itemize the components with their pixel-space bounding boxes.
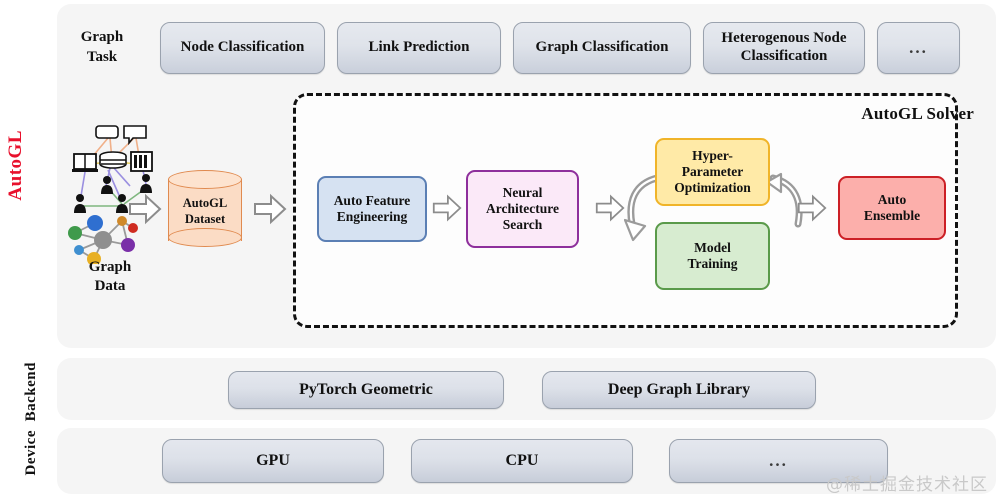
rail-label-backend: Backend <box>24 362 39 421</box>
device-box-label: ... <box>769 451 788 471</box>
task-box-node-classification[interactable]: Node Classification <box>160 22 325 74</box>
graph-node <box>87 215 103 231</box>
arrow-loop-to-ensemble <box>797 193 827 223</box>
stage-label-line1: Neural <box>486 185 559 201</box>
backend-box-deep-graph-library[interactable]: Deep Graph Library <box>542 371 816 409</box>
device-box-label: GPU <box>256 452 290 471</box>
arrow-nas-to-loop <box>595 193 625 223</box>
arrow-graphdata-to-dataset <box>128 193 162 225</box>
graph-node <box>117 216 127 226</box>
device-box-label: CPU <box>506 452 539 471</box>
device-box-cpu[interactable]: CPU <box>411 439 633 483</box>
backend-panel <box>57 358 996 420</box>
graph-task-label: Graph Task <box>62 28 142 67</box>
diagram-canvas: AutoGL Backend Device Graph Task Node Cl… <box>0 0 1000 499</box>
stage-label-line1: Auto <box>864 192 920 208</box>
stage-auto-ensemble[interactable]: Auto Ensemble <box>838 176 946 240</box>
task-box-more[interactable]: ... <box>877 22 960 74</box>
stage-label-line1: Auto Feature <box>334 193 411 209</box>
arrow-afe-to-nas <box>432 193 462 223</box>
autogl-dataset-cylinder: AutoGL Dataset <box>168 170 242 248</box>
stage-label-line1: Hyper- <box>674 148 751 164</box>
backend-box-pytorch-geometric[interactable]: PyTorch Geometric <box>228 371 504 409</box>
stage-auto-feature-engineering[interactable]: Auto Feature Engineering <box>317 176 427 242</box>
stage-neural-architecture-search[interactable]: Neural Architecture Search <box>466 170 579 248</box>
graph-data-label: Graph Data <box>62 258 158 296</box>
library-books-icon <box>131 152 152 171</box>
autogl-solver-title: AutoGL Solver <box>861 104 974 124</box>
person-icon <box>74 194 86 213</box>
stage-label-line3: Optimization <box>674 180 751 196</box>
device-box-gpu[interactable]: GPU <box>162 439 384 483</box>
task-box-link-prediction[interactable]: Link Prediction <box>337 22 501 74</box>
backend-box-label: Deep Graph Library <box>608 381 750 400</box>
stage-label-line3: Search <box>486 217 559 233</box>
dataset-label-line2: Dataset <box>185 212 225 228</box>
task-box-label: ... <box>909 38 928 58</box>
rail-label-device: Device <box>24 430 39 475</box>
stage-label-line2: Training <box>687 256 737 272</box>
cylinder-top <box>168 170 242 189</box>
task-box-label: Graph Classification <box>536 39 669 57</box>
graph-node <box>68 226 82 240</box>
rail-label-autogl: AutoGL <box>6 130 25 201</box>
stage-label-line2: Engineering <box>334 209 411 225</box>
laptop-icon <box>72 154 98 172</box>
task-box-graph-classification[interactable]: Graph Classification <box>513 22 691 74</box>
dataset-label-line1: AutoGL <box>183 196 227 212</box>
stage-label-line1: Model <box>687 240 737 256</box>
arrow-dataset-to-solver <box>253 193 287 225</box>
graph-data-label-line1: Graph <box>62 258 158 277</box>
graph-node <box>121 238 135 252</box>
task-box-label: Heterogenous Node Classification <box>710 30 858 65</box>
stage-model-training[interactable]: Model Training <box>655 222 770 290</box>
stage-label-line2: Parameter <box>674 164 751 180</box>
graph-node <box>94 231 112 249</box>
task-box-label: Node Classification <box>181 39 305 57</box>
graph-task-label-line1: Graph <box>62 28 142 48</box>
task-box-label: Link Prediction <box>369 39 470 57</box>
stage-label-line2: Architecture <box>486 201 559 217</box>
stage-hyper-parameter-optimization[interactable]: Hyper- Parameter Optimization <box>655 138 770 206</box>
stage-label-line2: Ensemble <box>864 208 920 224</box>
books-stack-icon <box>100 152 126 168</box>
graph-data-label-line2: Data <box>62 277 158 296</box>
watermark: @稀土掘金技术社区 <box>826 470 988 495</box>
speech-bubble-flag-icon <box>124 126 146 143</box>
dataset-label: AutoGL Dataset <box>168 190 242 234</box>
graph-task-label-line2: Task <box>62 48 142 68</box>
speech-bubble-icon <box>96 126 118 138</box>
graph-node <box>74 245 84 255</box>
backend-box-label: PyTorch Geometric <box>299 381 433 400</box>
task-box-heterogenous-node-classification[interactable]: Heterogenous Node Classification <box>703 22 865 74</box>
